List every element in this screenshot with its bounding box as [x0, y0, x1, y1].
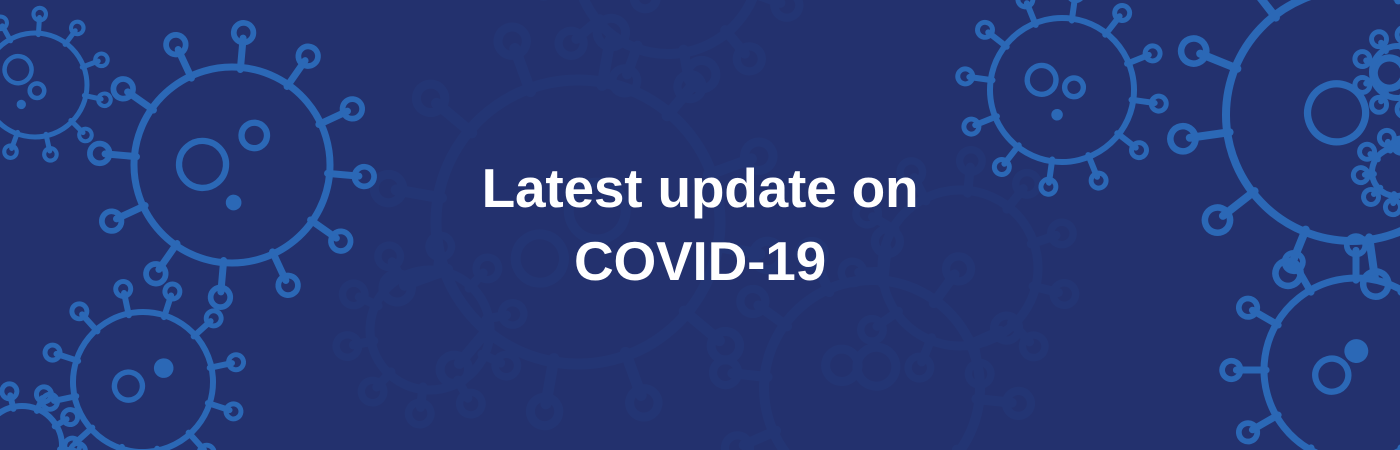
- virus-icon: [820, 126, 1103, 411]
- virus-icon: [78, 11, 387, 320]
- virus-icon: [305, 207, 555, 450]
- virus-pattern-background: [0, 0, 1400, 450]
- virus-icon: [490, 0, 846, 140]
- virus-icon: [1346, 121, 1400, 224]
- virus-icon: [1113, 0, 1400, 354]
- virus-icon: [1355, 27, 1400, 117]
- virus-icon: [0, 380, 91, 450]
- virus-icon: [943, 0, 1181, 209]
- headline-line-2: COVID-19: [574, 225, 826, 298]
- covid-update-banner: Latest update on COVID-19: [0, 0, 1400, 450]
- virus-icon: [0, 0, 127, 176]
- virus-icon: [339, 0, 818, 450]
- banner-headline: Latest update on COVID-19: [0, 0, 1400, 450]
- headline-line-1: Latest update on: [482, 152, 919, 225]
- virus-icon: [696, 212, 1047, 450]
- virus-pattern-foreground: [0, 0, 1400, 450]
- virus-icon: [14, 253, 273, 450]
- virus-icon: [1173, 187, 1400, 450]
